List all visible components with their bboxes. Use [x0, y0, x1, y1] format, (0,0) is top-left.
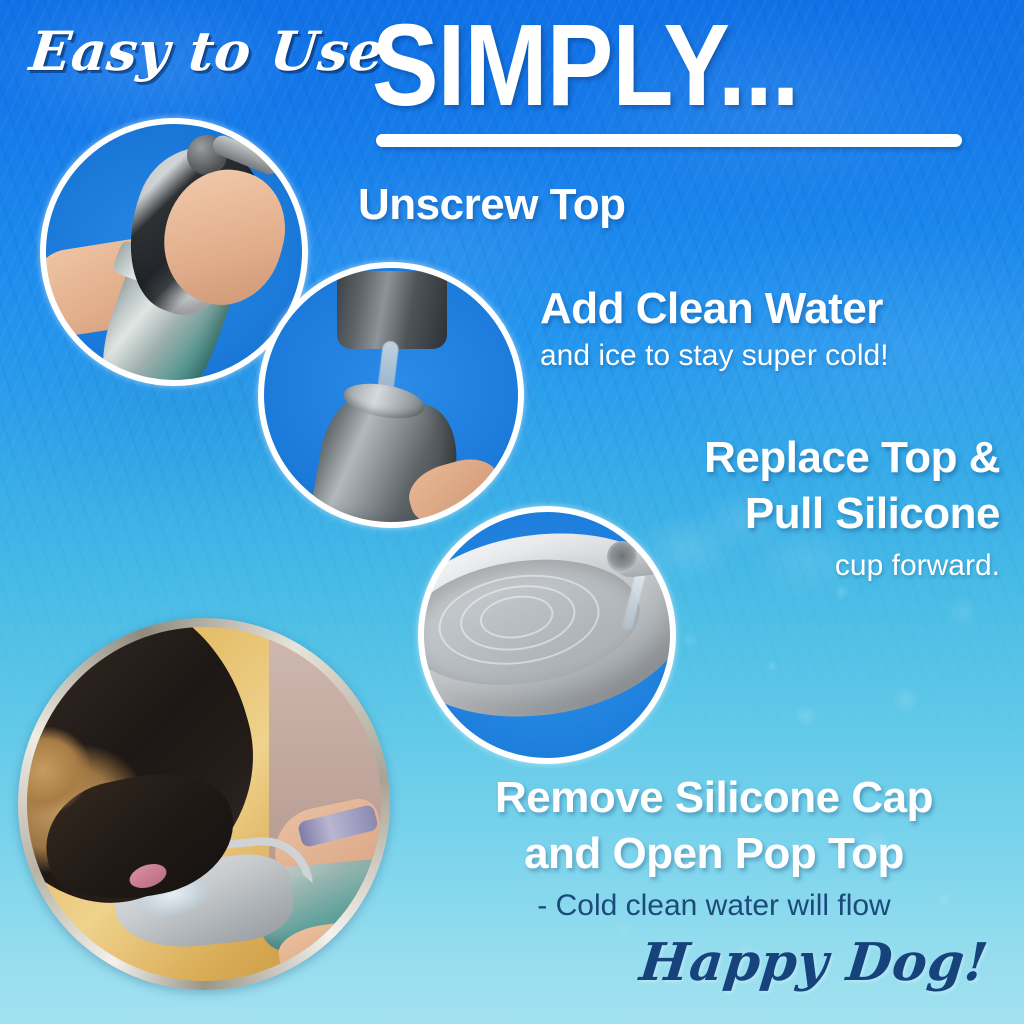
step-subline: - Cold clean water will flow: [424, 886, 1004, 926]
step-headline-line-1: Replace Top &: [704, 430, 1000, 486]
step-headline-line-2: Pull Silicone: [704, 486, 1000, 542]
step-subline: cup forward.: [704, 546, 1000, 586]
ripple-ring: [433, 565, 606, 675]
pouring-water-into-bottle-photo: [258, 262, 524, 528]
step-subline: and ice to stay super cold!: [540, 336, 980, 376]
step-remove-silicone-cap: Remove Silicone Cap and Open Pop Top - C…: [424, 770, 1004, 926]
step-headline-line-1: Remove Silicone Cap: [424, 770, 1004, 826]
easy-to-use-script-tagline: Easy to Use: [26, 14, 364, 88]
step-headline: Add Clean Water: [540, 284, 980, 334]
page-title: SIMPLY...: [372, 6, 799, 124]
step-replace-top-pull-silicone: Replace Top & Pull Silicone cup forward.: [704, 430, 1000, 586]
photo-image: [263, 267, 519, 523]
step-headline: Unscrew Top: [358, 180, 626, 230]
silicone-bowl-filling-photo: [418, 506, 676, 764]
photo-image: [45, 123, 303, 381]
photo-image: [27, 627, 381, 981]
title-underline-rule: [376, 134, 962, 147]
product-infographic-poster: Easy to Use SIMPLY...: [0, 0, 1024, 1024]
happy-dog-script-closer: Happy Dog!: [637, 932, 991, 994]
step-headline-line-2: and Open Pop Top: [424, 826, 1004, 882]
spout-opening-shape: [607, 541, 637, 573]
step-unscrew-top: Unscrew Top: [358, 180, 626, 230]
steel-cup-shape: [337, 271, 447, 349]
step-add-clean-water: Add Clean Water and ice to stay super co…: [540, 284, 980, 376]
dog-drinking-photo: [18, 618, 390, 990]
photo-image: [423, 511, 671, 759]
